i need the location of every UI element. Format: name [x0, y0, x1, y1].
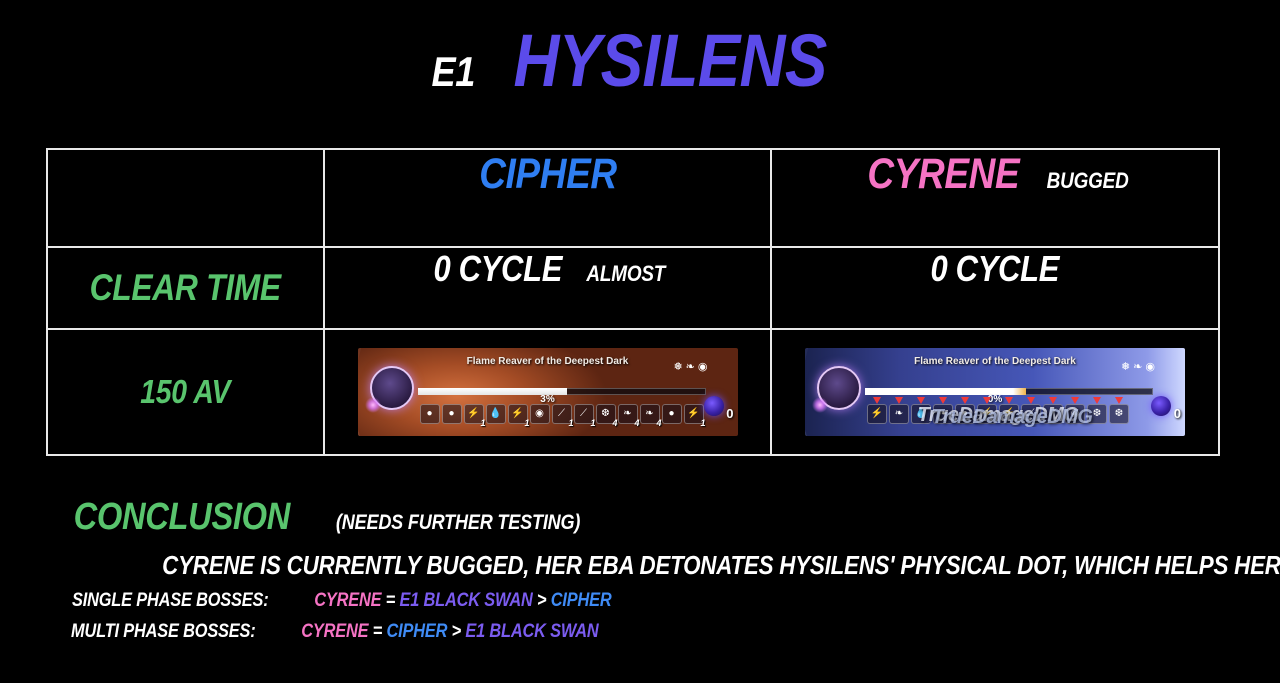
ranking-token: CIPHER	[547, 590, 612, 611]
boss-hp-bar	[418, 388, 706, 395]
debuff-arrow-down-icon	[1115, 397, 1123, 404]
conclusion-heading: CONCLUSION	[74, 496, 290, 539]
cipher-clear-time-note: ALMOST	[587, 261, 666, 287]
ranking-token: E1 BLACK SWAN	[396, 590, 534, 611]
header-cell-cipher: CIPHER	[324, 149, 771, 247]
row-label-text: CLEAR TIME	[90, 267, 281, 309]
ranking-token: >	[533, 590, 547, 611]
debuff-icon: ⚡1	[684, 404, 704, 424]
conclusion-section: CONCLUSION (NEEDS FURTHER TESTING) CYREN…	[56, 496, 1236, 643]
debuff-arrow-down-icon	[1093, 397, 1101, 404]
title-main: HYSILENS	[514, 18, 827, 103]
debuff-arrow-down-icon	[895, 397, 903, 404]
row-label-clear-time: CLEAR TIME	[47, 247, 324, 329]
debuff-arrow-down-icon	[917, 397, 925, 404]
table-row-150-av: 150 AV Flame Reaver of the Deepest Dark …	[47, 329, 1219, 455]
debuff-icon: ●	[662, 404, 682, 424]
ranking-token: CIPHER	[382, 621, 447, 642]
boss-hp-bar	[865, 388, 1153, 395]
cell-cyrene-clear-time: 0 CYCLE	[771, 247, 1219, 329]
column-title-cyrene: CYRENE	[867, 150, 1019, 199]
debuff-icon: ◉	[530, 404, 550, 424]
debuff-stack-count: 1	[590, 419, 595, 428]
ranking-token: =	[368, 621, 382, 642]
debuff-arrow-down-icon	[983, 397, 991, 404]
ranking-tokens: CYRENE = E1 BLACK SWAN > CIPHER	[315, 590, 612, 612]
debuff-stack-count: 1	[700, 419, 705, 428]
ranking-multi-phase: MULTI PHASE BOSSES: CYRENE = CIPHER > E1…	[56, 621, 1236, 643]
ranking-token: =	[382, 590, 396, 611]
cell-cyrene-screenshot: Flame Reaver of the Deepest Dark 0% ⚡❧💧❧…	[771, 329, 1219, 455]
row-label-text: 150 AV	[141, 373, 231, 411]
column-title-cipher: CIPHER	[479, 150, 617, 199]
debuff-icon: 💧	[486, 404, 506, 424]
debuff-arrow-down-icon	[1049, 397, 1057, 404]
flower-icon: ❧	[686, 362, 695, 373]
debuff-icon: ⚡1	[464, 404, 484, 424]
debuff-stack-count: 4	[656, 419, 661, 428]
debuff-icon: ❧4	[640, 404, 660, 424]
ranking-token: CYRENE	[301, 621, 368, 642]
debuff-arrow-down-icon	[1005, 397, 1013, 404]
turn-counter-orb-icon	[704, 396, 724, 416]
conclusion-note: (NEEDS FURTHER TESTING)	[336, 511, 580, 535]
debuff-icon: ❧4	[618, 404, 638, 424]
table-row-clear-time: CLEAR TIME 0 CYCLE ALMOST 0 CYCLE	[47, 247, 1219, 329]
damage-text-secondary: TrueDamageDMG	[847, 406, 1163, 427]
cipher-clear-time-value: 0 CYCLE	[433, 248, 562, 290]
column-badge-bugged: BUGGED	[1047, 168, 1129, 194]
debuff-icon: ●	[442, 404, 462, 424]
debuff-icon: ●	[420, 404, 440, 424]
boss-name-label: Flame Reaver of the Deepest Dark	[885, 356, 1105, 368]
eye-icon: ◉	[698, 362, 708, 373]
debuff-stack-count: 1	[524, 419, 529, 428]
cyrene-run-screenshot: Flame Reaver of the Deepest Dark 0% ⚡❧💧❧…	[805, 348, 1185, 436]
boss-name-label: Flame Reaver of the Deepest Dark	[438, 356, 658, 368]
flower-icon: ❧	[1133, 362, 1142, 373]
debuff-icon-row: ●●⚡1💧⚡1◉⟋1⟋1❆4❧4❧4●⚡1	[420, 404, 704, 424]
debuff-stack-count: 4	[612, 419, 617, 428]
turn-counter-value: 0	[1174, 406, 1181, 421]
cell-cipher-screenshot: Flame Reaver of the Deepest Dark 3% ●●⚡1…	[324, 329, 771, 455]
title-prefix: E1	[431, 48, 474, 96]
debuff-arrow-down-icon	[873, 397, 881, 404]
snowflake-icon: ❅	[1121, 362, 1130, 373]
debuff-icon: ⚡1	[508, 404, 528, 424]
boss-portrait-icon	[370, 366, 414, 410]
ranking-token: CYRENE	[315, 590, 382, 611]
ranking-label: MULTI PHASE BOSSES:	[71, 621, 256, 643]
row-label-150-av: 150 AV	[47, 329, 324, 455]
turn-counter-value: 0	[726, 406, 733, 421]
debuff-arrow-down-icon	[939, 397, 947, 404]
debuff-arrow-down-icon	[1027, 397, 1035, 404]
ranking-label: SINGLE PHASE BOSSES:	[72, 590, 268, 612]
buff-icon-row: ❅ ❧ ◉	[1121, 362, 1155, 373]
ranking-token: E1 BLACK SWAN	[461, 621, 599, 642]
comparison-table: CIPHER CYRENE BUGGED CLEAR TIME 0 CYCLE	[46, 148, 1220, 456]
ranking-single-phase: SINGLE PHASE BOSSES: CYRENE = E1 BLACK S…	[56, 590, 1236, 612]
debuff-arrow-down-icon	[961, 397, 969, 404]
snowflake-icon: ❅	[673, 362, 682, 373]
ranking-tokens: CYRENE = CIPHER > E1 BLACK SWAN	[301, 621, 598, 643]
table-header-row: CIPHER CYRENE BUGGED	[47, 149, 1219, 247]
debuff-stack-count: 1	[568, 419, 573, 428]
buff-icon-row: ❅ ❧ ◉	[673, 362, 707, 373]
debuff-stack-count: 1	[480, 419, 485, 428]
header-cell-cyrene: CYRENE BUGGED	[771, 149, 1219, 247]
page-title: E1 HYSILENS	[0, 14, 1280, 106]
cell-cipher-clear-time: 0 CYCLE ALMOST	[324, 247, 771, 329]
ranking-token: >	[447, 621, 461, 642]
cipher-run-screenshot: Flame Reaver of the Deepest Dark 3% ●●⚡1…	[358, 348, 738, 436]
turn-counter-orb-icon	[1151, 396, 1171, 416]
debuff-stack-count: 4	[634, 419, 639, 428]
debuff-icon: ⟋1	[552, 404, 572, 424]
eye-icon: ◉	[1145, 362, 1155, 373]
debuff-icon: ❆4	[596, 404, 616, 424]
debuff-icon: ⟋1	[574, 404, 594, 424]
header-cell-empty	[47, 149, 324, 247]
conclusion-body-text: CYRENE IS CURRENTLY BUGGED, HER EBA DETO…	[162, 550, 1280, 581]
debuff-arrow-down-icon	[1071, 397, 1079, 404]
cyrene-clear-time-value: 0 CYCLE	[931, 248, 1060, 290]
damage-number-overlay: TrueDamageDMG TrueDamageDMG	[833, 404, 1163, 427]
